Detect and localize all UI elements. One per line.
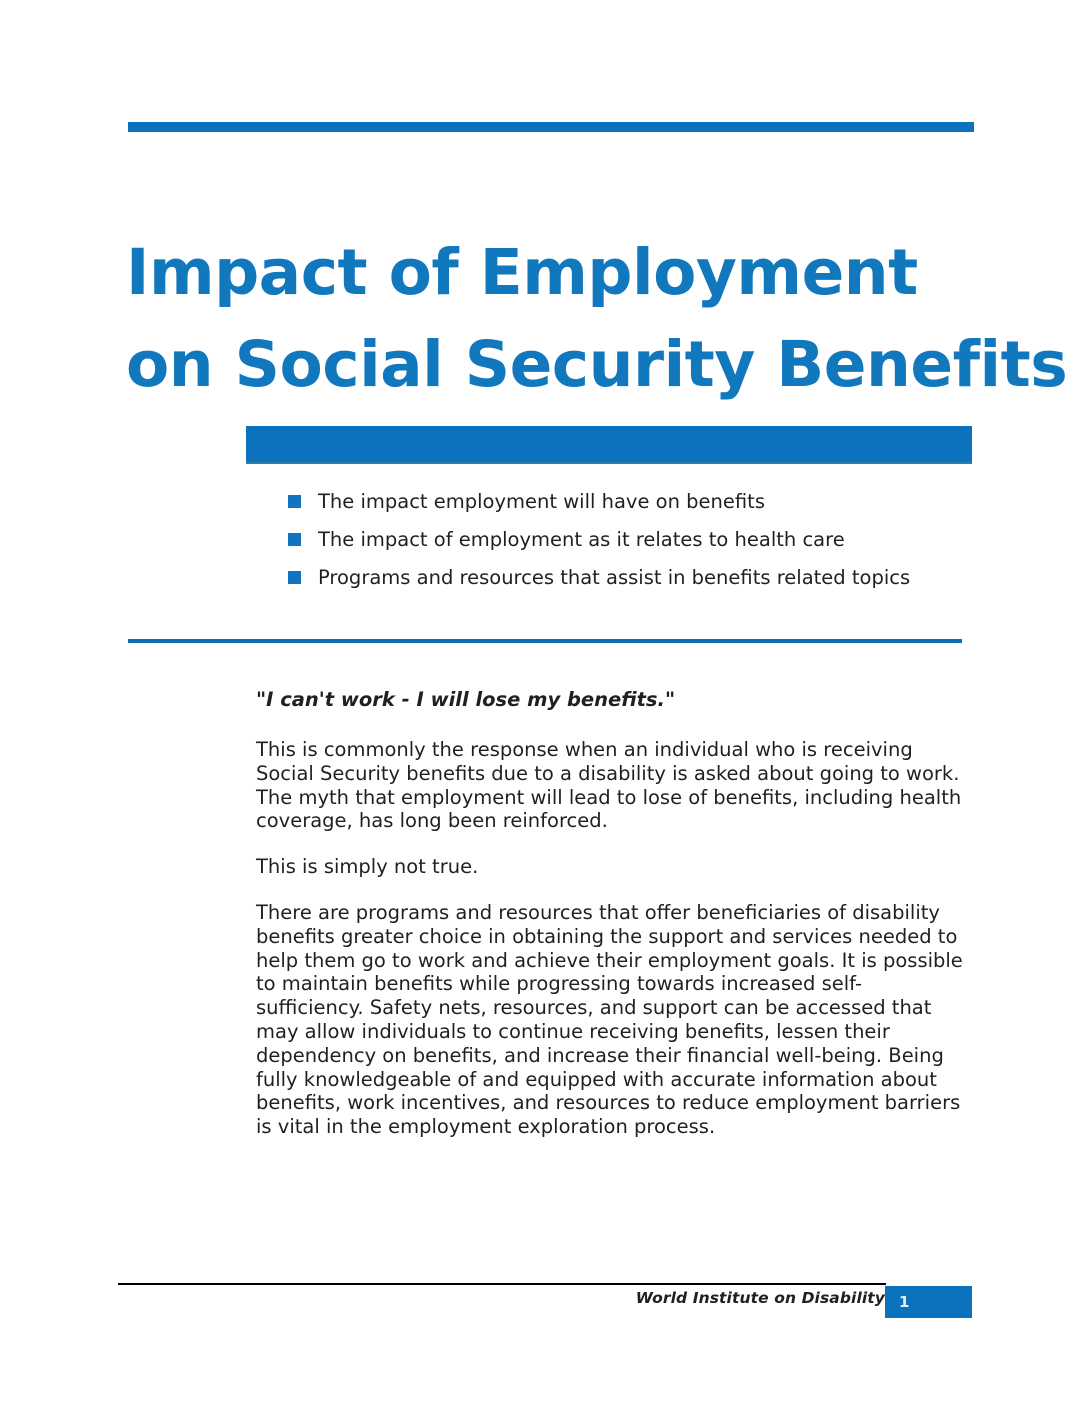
footer-organization: World Institute on Disability	[636, 1289, 885, 1307]
page-number-badge: 1	[885, 1286, 972, 1318]
page-title-line-1: Impact of Employment	[126, 227, 986, 319]
bullet-square-icon	[288, 533, 301, 546]
body-content: "I can't work - I will lose my benefits.…	[256, 687, 968, 1139]
list-item: Programs and resources that assist in be…	[288, 565, 988, 590]
list-item: The impact employment will have on benef…	[288, 489, 988, 514]
pull-quote: "I can't work - I will lose my benefits.…	[256, 687, 968, 713]
page-title-line-2: on Social Security Benefits	[126, 319, 986, 411]
body-paragraph-2: This is simply not true.	[256, 855, 968, 879]
overview-header-band	[246, 426, 972, 464]
body-paragraph-1: This is commonly the response when an in…	[256, 738, 968, 833]
overview-bullet-list: The impact employment will have on benef…	[288, 489, 988, 603]
bullet-text: The impact of employment as it relates t…	[318, 527, 988, 552]
section-divider-rule	[128, 639, 962, 643]
document-page: Impact of Employment on Social Security …	[0, 0, 1088, 1408]
top-accent-rule	[128, 122, 974, 132]
bullet-square-icon	[288, 495, 301, 508]
bullet-text: The impact employment will have on benef…	[318, 489, 988, 514]
bullet-text: Programs and resources that assist in be…	[318, 565, 988, 590]
footer-divider-rule	[118, 1283, 886, 1285]
body-paragraph-3: There are programs and resources that of…	[256, 901, 968, 1139]
page-number: 1	[899, 1293, 909, 1311]
list-item: The impact of employment as it relates t…	[288, 527, 988, 552]
bullet-square-icon	[288, 571, 301, 584]
page-title: Impact of Employment on Social Security …	[126, 227, 986, 411]
